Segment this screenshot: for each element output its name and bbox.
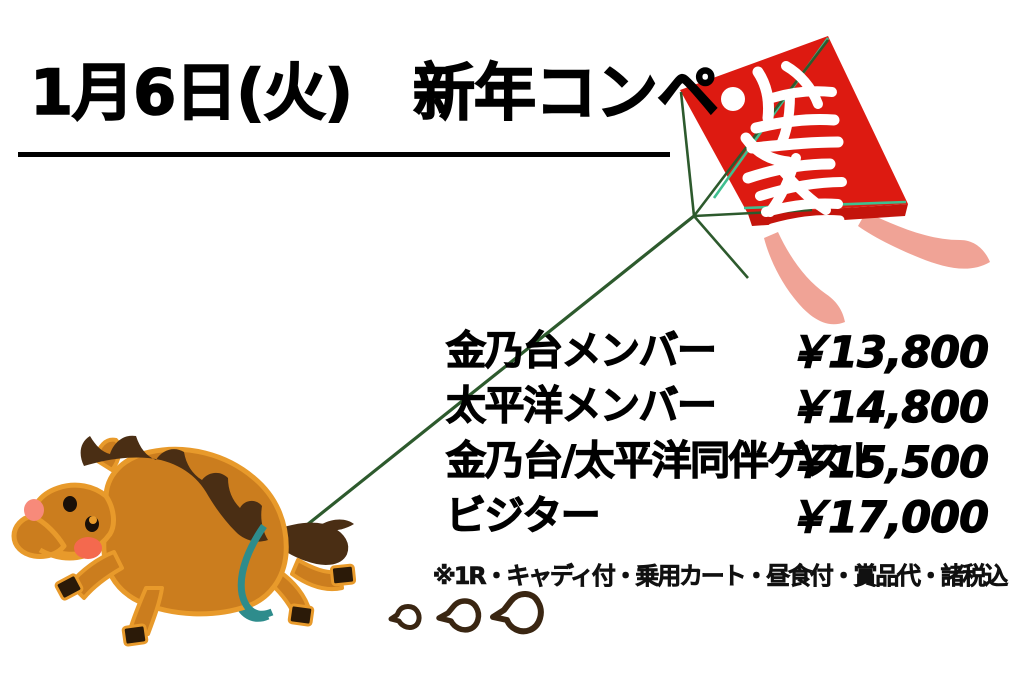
- horse-tail-tuft: [322, 520, 354, 531]
- page-title: 1月6日(火) 新年コンペ: [30, 62, 718, 124]
- horse-rope-back: [235, 528, 268, 618]
- price-row: 金乃台/太平洋同伴ゲスト ￥15,500: [446, 428, 1006, 483]
- price-label: 太平洋メンバー: [446, 373, 716, 431]
- horse-ear: [96, 440, 119, 470]
- horse-hoof-back-left: [289, 605, 313, 626]
- horse-head: [32, 485, 114, 554]
- price-label: 金乃台メンバー: [446, 318, 716, 376]
- horse-eye-upper: [63, 496, 77, 512]
- price-value: ￥13,800: [786, 318, 988, 380]
- horse-eye-highlight: [89, 516, 97, 524]
- horse-muzzle: [14, 516, 64, 557]
- horse-hoof-front-left: [55, 574, 83, 600]
- price-value: ￥14,800: [786, 373, 988, 435]
- horse-hoof-front-right: [123, 625, 147, 646]
- price-label: ビジター: [446, 483, 599, 541]
- pricing-footnote: ※1R・キャディ付・乗用カート・昼食付・賞品代・諸税込: [433, 556, 1006, 591]
- kite-bridle-bottom: [694, 210, 812, 216]
- horse-eye-lower: [85, 516, 99, 532]
- kite-tail-right: [858, 212, 990, 269]
- kite-spar-diagonal: [714, 38, 828, 198]
- dust-puff-large: [493, 594, 541, 631]
- horse-body: [104, 449, 286, 614]
- poster-canvas: 1月6日(火) 新年コンペ 金乃台メンバー ￥13,800 太平洋メンバー ￥1…: [0, 0, 1024, 690]
- kite-text-geishun: [721, 66, 842, 228]
- horse-mane: [81, 436, 268, 542]
- horse-leg-back-right: [292, 560, 342, 589]
- hoof-dust-puffs: [375, 585, 555, 645]
- horse-tail: [272, 524, 347, 564]
- horse-illustration: [10, 420, 430, 680]
- kite-spar-horizontal: [744, 202, 906, 208]
- price-row: ビジター ￥17,000: [446, 483, 1006, 538]
- price-list: 金乃台メンバー ￥13,800 太平洋メンバー ￥14,800 金乃台/太平洋同…: [446, 318, 1006, 538]
- price-value: ￥15,500: [786, 428, 988, 490]
- horse-leg-back-left: [262, 568, 308, 610]
- price-value: ￥17,000: [786, 483, 988, 545]
- price-row: 太平洋メンバー ￥14,800: [446, 373, 1006, 428]
- horse-mouth: [40, 550, 84, 558]
- horse-cheek-blush: [74, 537, 102, 559]
- horse-nostril: [24, 499, 44, 521]
- horse-hoof-back-right: [331, 565, 355, 585]
- horse-rope-front: [241, 526, 272, 614]
- horse-leg-front-left: [70, 552, 122, 598]
- kite-bridle-lower: [694, 216, 748, 278]
- kite-tail-left: [764, 232, 845, 324]
- title-underline-rule: [18, 152, 670, 157]
- dust-puff-small: [391, 607, 419, 628]
- horse-leg-front-right: [130, 588, 162, 634]
- dust-puff-medium: [439, 601, 478, 630]
- price-row: 金乃台メンバー ￥13,800: [446, 318, 1006, 373]
- kite-face-shadow: [748, 204, 908, 226]
